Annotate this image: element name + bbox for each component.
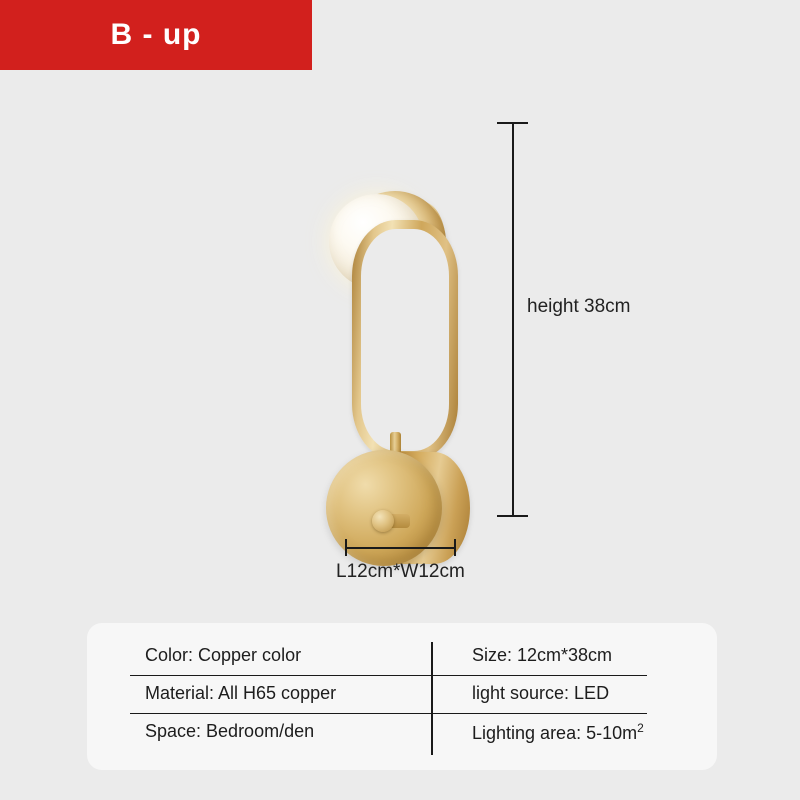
spec-color: Color: Copper color	[145, 645, 301, 666]
spec-rule-left-1	[130, 675, 431, 676]
spec-size: Size: 12cm*38cm	[472, 645, 612, 666]
brass-wall-mount-base	[326, 450, 442, 566]
spec-rule-right-2	[431, 713, 647, 714]
spec-lighting-area-text: Lighting area: 5-10m	[472, 723, 637, 743]
specification-table: Color: Copper color Material: All H65 co…	[87, 623, 717, 770]
base-knob	[372, 510, 394, 532]
oval-brass-arm	[352, 220, 458, 460]
spec-light-source: light source: LED	[472, 683, 609, 704]
spec-rule-right-1	[431, 675, 647, 676]
spec-column-divider	[431, 642, 433, 755]
specification-card: Color: Copper color Material: All H65 co…	[87, 623, 717, 770]
spec-space: Space: Bedroom/den	[145, 721, 314, 742]
variant-banner: B - up	[0, 0, 312, 70]
spec-lighting-area-superscript: 2	[637, 721, 644, 735]
spec-material: Material: All H65 copper	[145, 683, 336, 704]
spec-rule-left-2	[130, 713, 431, 714]
product-image	[0, 70, 800, 615]
variant-banner-label: B - up	[111, 18, 202, 52]
spec-lighting-area: Lighting area: 5-10m2	[472, 721, 644, 744]
